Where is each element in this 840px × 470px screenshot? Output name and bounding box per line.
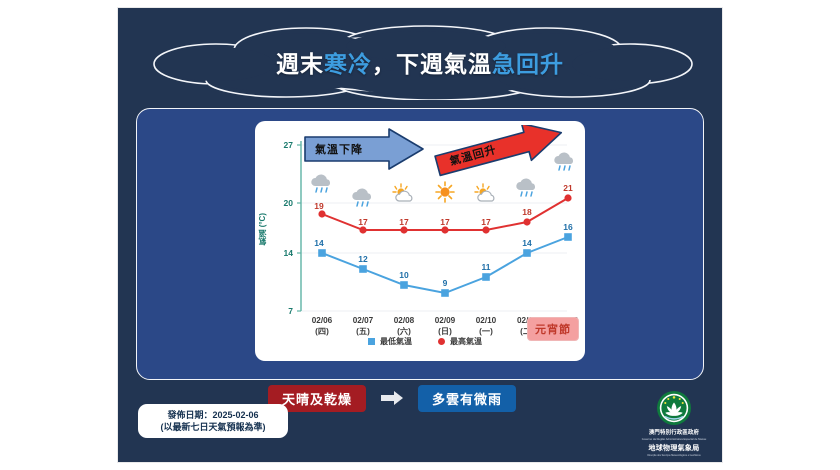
- x-tick-date-3: 02/09: [423, 315, 467, 326]
- logo-line-3: 地球物理氣象局: [638, 443, 710, 453]
- temperature-rising-arrow: 氣溫回升: [433, 125, 569, 179]
- title-part-3: ，下週氣溫: [372, 45, 492, 79]
- smg-logo: 澳門特別行政區政府 Governo da Região Administrati…: [638, 390, 710, 458]
- x-tick-date-4: 02/10: [464, 315, 508, 326]
- sunny-icon: [431, 181, 459, 203]
- weather-forecast-poster: 週末寒冷，下週氣溫急回升: [0, 0, 840, 470]
- title-part-1: 週末: [276, 45, 324, 79]
- title-part-2: 寒冷: [324, 45, 372, 79]
- legend-square-icon: [368, 338, 375, 345]
- x-tick-date-0: 02/06: [300, 315, 344, 326]
- low-value-3: 9: [433, 278, 457, 288]
- chart-legend: 最低氣溫 最高氣溫: [315, 333, 535, 349]
- temperature-falling-arrow: 氣溫下降: [303, 127, 425, 175]
- festival-badge: 元宵節: [527, 317, 579, 341]
- y-tick-20: 20: [271, 198, 293, 208]
- high-value-3: 17: [433, 217, 457, 227]
- cloud-banner: 週末寒冷，下週氣溫急回升: [136, 24, 704, 100]
- low-value-1: 12: [351, 254, 375, 264]
- title-part-4: 急回升: [492, 45, 564, 79]
- issue-date-box: 發佈日期：2025-02-06 (以最新七日天氣預報為準): [138, 404, 288, 438]
- right-arrow-icon: [380, 390, 404, 406]
- poster-title: 週末寒冷，下週氣溫急回升: [136, 24, 704, 100]
- y-tick-7: 7: [271, 306, 293, 316]
- poster-canvas: 週末寒冷，下週氣溫急回升: [118, 8, 722, 462]
- legend-item-high: 最高氣溫: [438, 336, 482, 347]
- logo-line-1: 澳門特別行政區政府: [638, 428, 710, 436]
- low-value-2: 10: [392, 270, 416, 280]
- y-tick-14: 14: [271, 248, 293, 258]
- high-value-0: 19: [307, 201, 331, 211]
- high-value-6: 21: [556, 183, 580, 193]
- x-tick-date-1: 02/07: [341, 315, 385, 326]
- logo-line-2: Governo da Região Administrativa Especia…: [642, 437, 707, 441]
- issue-date-line1: 發佈日期：2025-02-06: [144, 409, 282, 421]
- high-value-1: 17: [351, 217, 375, 227]
- high-value-5: 18: [515, 207, 539, 217]
- temperature-chart-card: 27 20 14 7 氣溫 (°C) 02/06 (四) 02/07 (五): [255, 121, 585, 361]
- upcoming-weather-pill: 多雲有微雨: [418, 385, 516, 412]
- high-value-4: 17: [474, 217, 498, 227]
- low-value-4: 11: [474, 262, 498, 272]
- low-value-6: 16: [556, 222, 580, 232]
- legend-circle-icon: [438, 338, 445, 345]
- rain-cloud-icon: [349, 187, 377, 209]
- x-tick-date-2: 02/08: [382, 315, 426, 326]
- y-tick-27: 27: [271, 140, 293, 150]
- low-value-0: 14: [307, 238, 331, 248]
- y-axis-label: 氣溫 (°C): [257, 213, 268, 246]
- issue-date-line2: (以最新七日天氣預報為準): [144, 421, 282, 433]
- rain-cloud-icon: [308, 173, 336, 195]
- high-value-2: 17: [392, 217, 416, 227]
- chart-panel: 27 20 14 7 氣溫 (°C) 02/06 (四) 02/07 (五): [136, 108, 704, 380]
- temperature-chart: 27 20 14 7 氣溫 (°C) 02/06 (四) 02/07 (五): [255, 121, 585, 361]
- weather-transition-row: 天晴及乾燥 多雲有微雨: [268, 386, 588, 410]
- rain-cloud-icon: [513, 177, 541, 199]
- legend-item-low: 最低氣溫: [368, 336, 412, 347]
- smg-lotus-emblem-icon: [656, 390, 692, 426]
- partly-sunny-icon: [472, 183, 500, 205]
- temperature-falling-arrow-label: 氣溫下降: [315, 141, 363, 157]
- low-value-5: 14: [515, 238, 539, 248]
- legend-label-high: 最高氣溫: [450, 336, 482, 347]
- logo-line-4: Direcção dos Serviços Meteorológicos e G…: [642, 454, 707, 457]
- legend-label-low: 最低氣溫: [380, 336, 412, 347]
- partly-sunny-icon: [390, 183, 418, 205]
